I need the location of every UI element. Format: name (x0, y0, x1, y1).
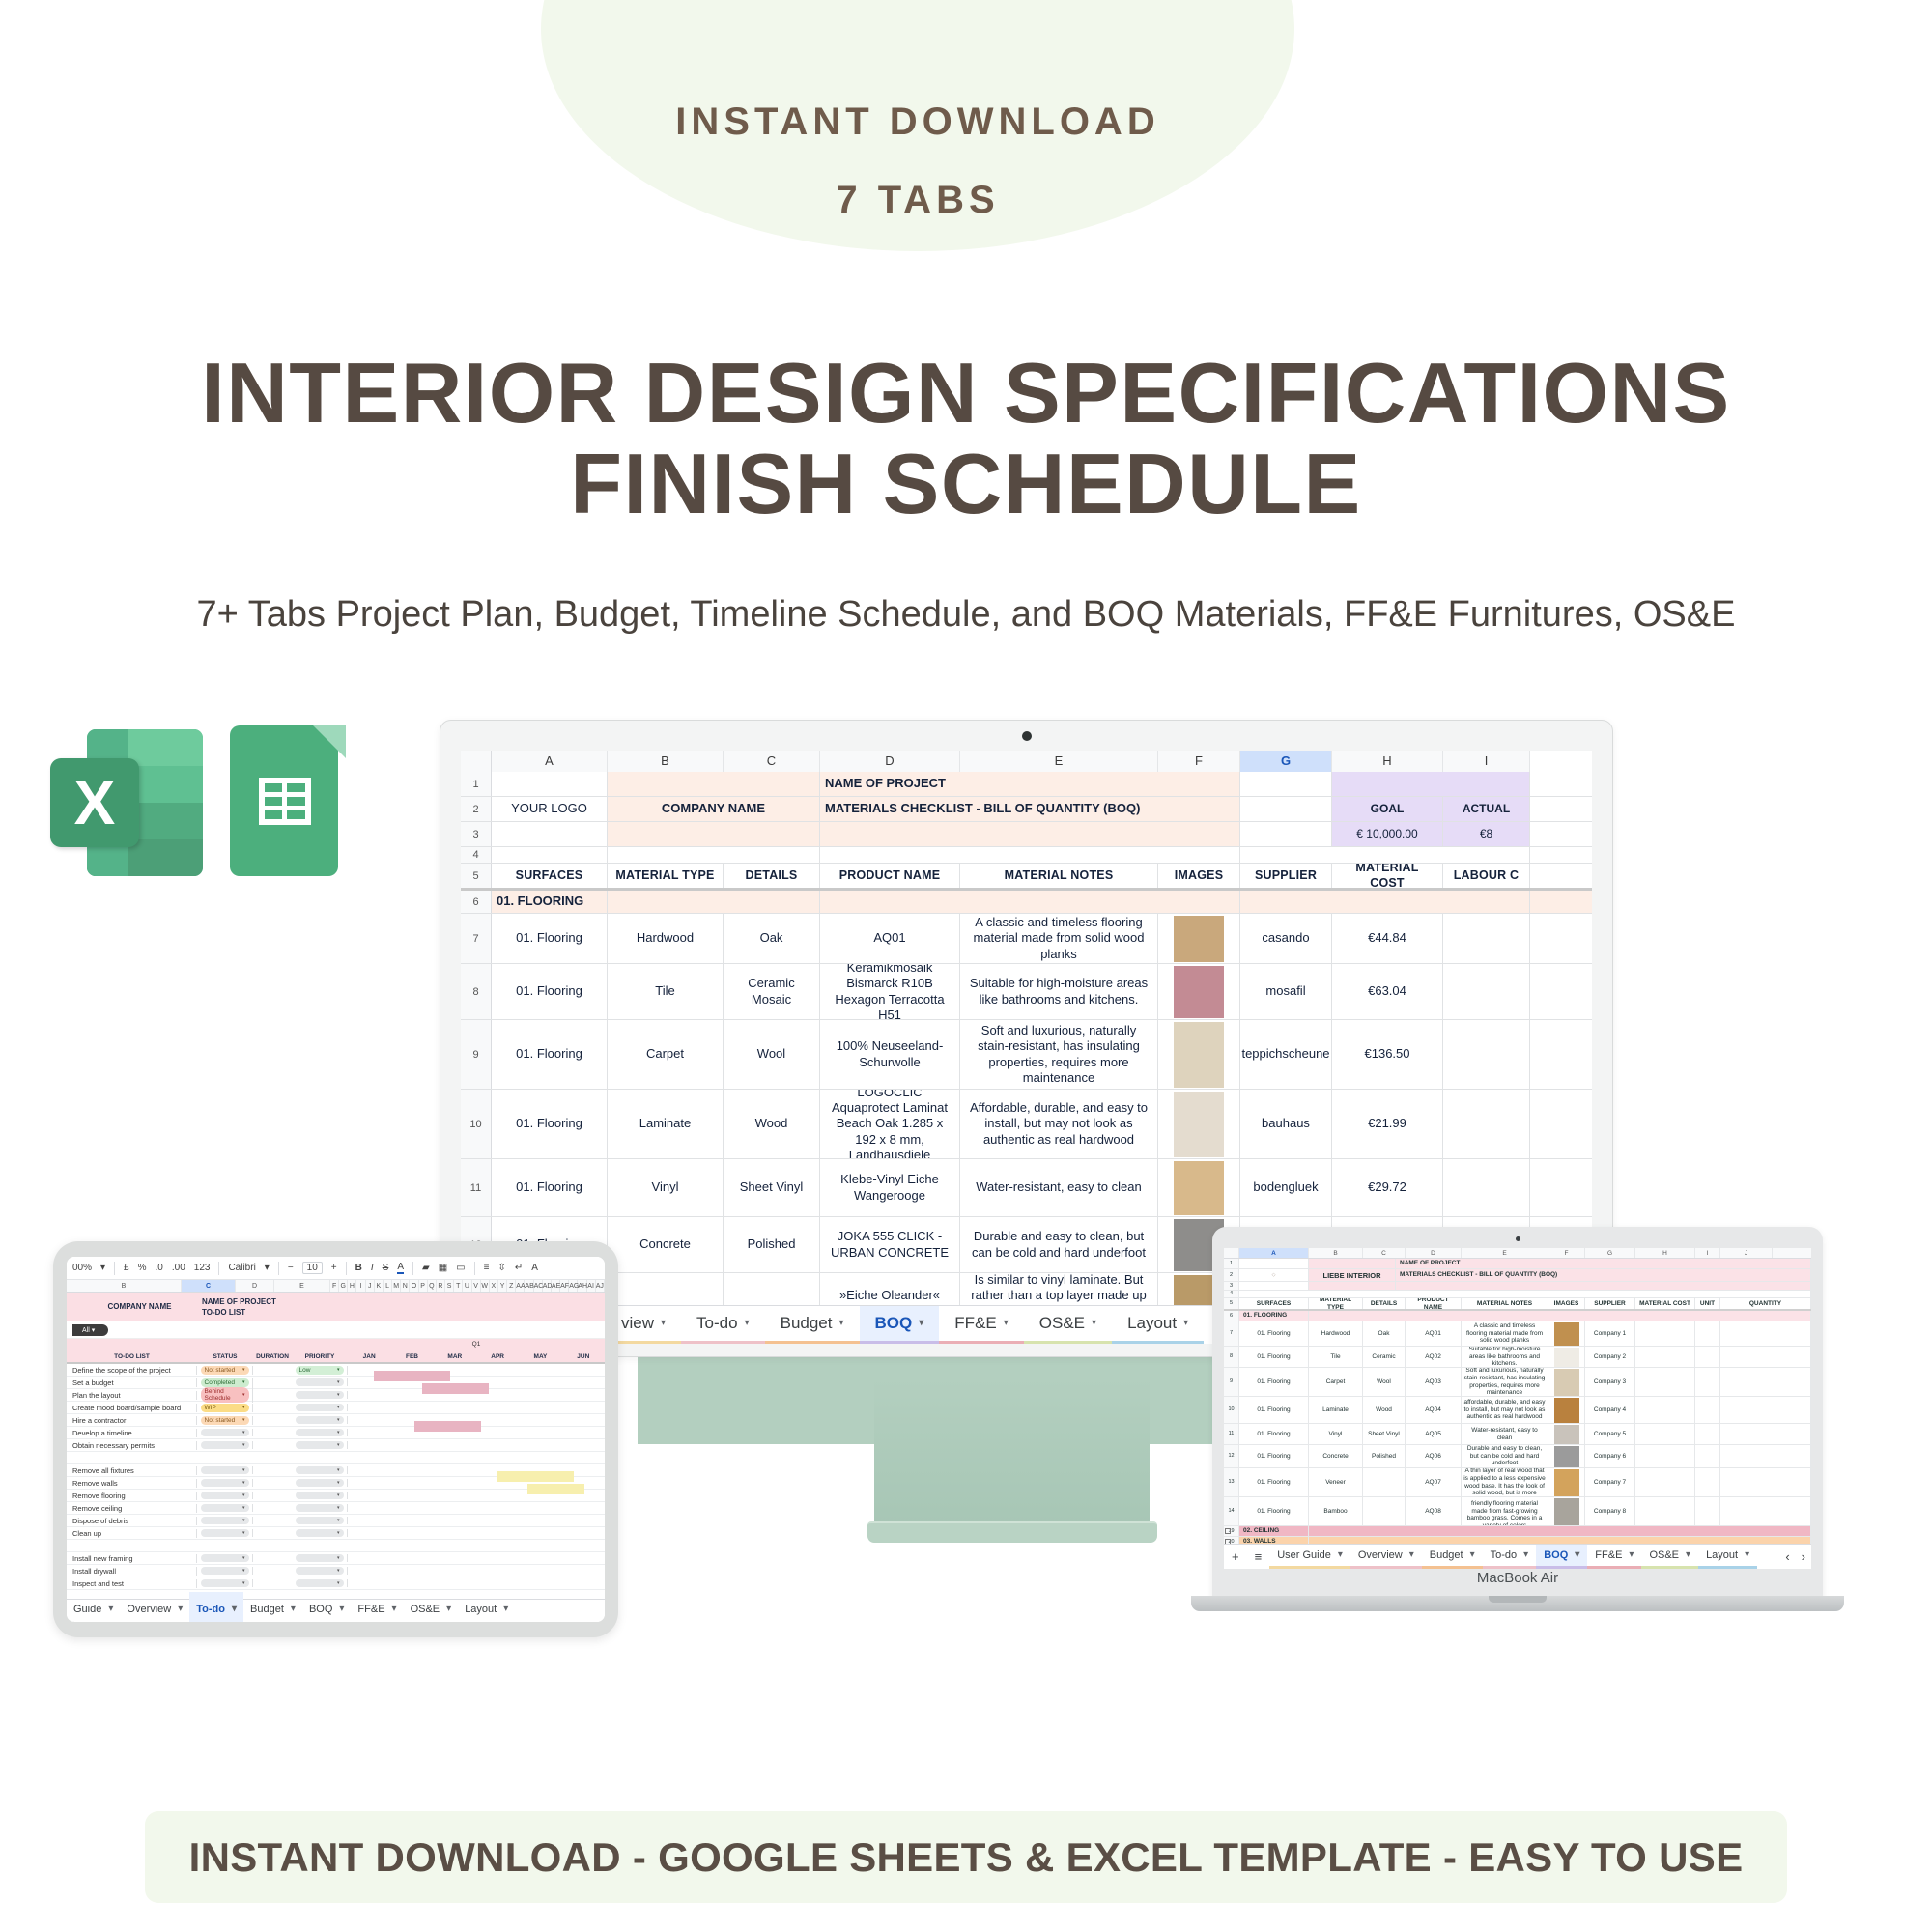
mb-cell-material-type: Vinyl (1309, 1424, 1363, 1444)
chevron-down-icon[interactable]: ▾ (100, 1263, 105, 1273)
chevron-down-icon[interactable]: ▾ (1470, 1549, 1475, 1560)
mb-col-B[interactable]: B (1309, 1248, 1363, 1258)
tablet-col-W[interactable]: W (481, 1280, 490, 1292)
sheet-tab-overview[interactable]: Overview▾ (120, 1592, 189, 1623)
mb-row-number[interactable]: 9 (1224, 1368, 1239, 1396)
cell-material-cost: €136.50 (1332, 1020, 1443, 1089)
status-chip[interactable]: WIP▾ (201, 1404, 249, 1412)
mb-cell-supplier: Company 4 (1585, 1397, 1635, 1423)
zoom-level[interactable]: 00% (72, 1263, 92, 1273)
sheet-tab-label: BOQ (875, 1314, 913, 1333)
tablet-col-H[interactable]: H (348, 1280, 356, 1292)
text-color-icon[interactable]: A (397, 1262, 404, 1274)
priority-chip[interactable]: ▾ (296, 1579, 344, 1587)
bold-icon[interactable]: B (355, 1263, 362, 1273)
col-G[interactable]: G (1240, 751, 1332, 772)
filter-all-button[interactable]: All ▾ (72, 1324, 108, 1336)
chevron-down-icon[interactable]: ▾ (337, 1518, 340, 1523)
mb-row-number[interactable]: 14 (1224, 1497, 1239, 1525)
title-line-1: INTERIOR DESIGN SPECIFICATIONS (201, 345, 1731, 440)
mb-cell-unit (1695, 1468, 1720, 1496)
cell-material-cost: €44.84 (1332, 914, 1443, 963)
increase-font-size-button[interactable]: + (331, 1263, 337, 1273)
badge-line-1: INSTANT DOWNLOAD (675, 100, 1159, 144)
mb-row-num-3[interactable]: 3 (1224, 1282, 1239, 1290)
chevron-down-icon[interactable]: ▾ (337, 1530, 340, 1536)
mb-row-num-4[interactable]: 4 (1224, 1291, 1239, 1297)
status-chip[interactable]: ▾ (201, 1579, 249, 1587)
mb-cell-image (1548, 1468, 1585, 1496)
vertical-align-icon[interactable]: ⇳ (497, 1263, 505, 1273)
mb-row-number[interactable]: 8 (1224, 1347, 1239, 1367)
horizontal-align-icon[interactable]: ≡ (484, 1263, 490, 1273)
mb-row-num-2[interactable]: 2 (1224, 1269, 1239, 1281)
status-cell: ▾ (197, 1567, 253, 1575)
status-cell: Completed▾ (197, 1378, 253, 1387)
tablet-col-C[interactable]: C (182, 1280, 236, 1292)
increase-decimal-icon[interactable]: .00 (172, 1263, 185, 1273)
mb-row-number[interactable]: 13 (1224, 1468, 1239, 1496)
tablet-col-T[interactable]: T (454, 1280, 463, 1292)
tablet-col-P[interactable]: P (419, 1280, 428, 1292)
mb-cell-material-notes: A classic and timeless flooring material… (1462, 1321, 1548, 1346)
chevron-down-icon[interactable]: ▾ (242, 1580, 245, 1586)
tablet-col-AJ[interactable]: AJ (596, 1280, 605, 1292)
chevron-down-icon[interactable]: ▾ (242, 1505, 245, 1511)
col-F[interactable]: F (1158, 751, 1240, 772)
priority-chip[interactable]: ▾ (296, 1429, 344, 1436)
priority-chip[interactable]: ▾ (296, 1504, 344, 1512)
mb-collapse-group-icon[interactable] (1225, 1528, 1231, 1534)
col-E[interactable]: E (960, 751, 1158, 772)
mb-cell-product-name: AQ03 (1406, 1368, 1462, 1396)
cell-supplier: bodengluek (1240, 1159, 1332, 1216)
number-format-icon[interactable]: 123 (194, 1263, 211, 1273)
chevron-down-icon[interactable]: ▾ (1409, 1549, 1414, 1560)
chevron-down-icon[interactable]: ▾ (242, 1568, 245, 1574)
chevron-down-icon[interactable]: ▾ (337, 1555, 340, 1561)
mb-cell-quantity (1720, 1368, 1811, 1396)
chevron-down-icon[interactable]: ▾ (242, 1518, 245, 1523)
tablet-col-M[interactable]: M (392, 1280, 401, 1292)
mb-cell-supplier: Company 8 (1585, 1497, 1635, 1525)
cell-material-type: Hardwood (608, 914, 724, 963)
priority-chip[interactable]: ▾ (296, 1378, 344, 1386)
cell-product-name: Keramikmosaik Bismarck R10B Hexagon Terr… (820, 964, 960, 1019)
chevron-down-icon[interactable]: ▾ (265, 1263, 270, 1273)
macbook-column-header-row: ABCDEFGHIJ (1224, 1248, 1811, 1259)
tablet-col-U[interactable]: U (463, 1280, 471, 1292)
col-A[interactable]: A (492, 751, 608, 772)
mb-col-E[interactable]: E (1462, 1248, 1548, 1258)
mb-material-swatch-image (1554, 1398, 1579, 1423)
month-apr: APR (476, 1350, 519, 1362)
status-chip[interactable]: Completed▾ (201, 1378, 249, 1387)
chevron-down-icon[interactable]: ▾ (745, 1318, 750, 1328)
priority-chip[interactable]: ▾ (296, 1479, 344, 1487)
col-H[interactable]: H (1332, 751, 1443, 772)
chevron-down-icon[interactable]: ▾ (1183, 1318, 1188, 1328)
tablet-banner: COMPANY NAME NAME OF PROJECT TO-DO LIST (67, 1293, 605, 1321)
row-number[interactable]: 9 (461, 1020, 492, 1089)
mb-row-number[interactable]: 10 (1224, 1397, 1239, 1423)
chevron-down-icon[interactable]: ▾ (1092, 1318, 1096, 1328)
sheet-tab-os-e[interactable]: OS&E▾ (1641, 1545, 1698, 1570)
priority-chip[interactable]: ▾ (296, 1441, 344, 1449)
cell-labour-cost (1443, 1020, 1530, 1089)
mb-cell-material-notes: A sustainable and eco-friendly flooring … (1462, 1497, 1548, 1525)
chevron-down-icon[interactable]: ▾ (337, 1430, 340, 1435)
tablet-col-AH[interactable]: AH (578, 1280, 586, 1292)
chevron-down-icon[interactable]: ▾ (242, 1392, 245, 1398)
chevron-down-icon[interactable]: ▾ (242, 1367, 245, 1373)
tablet-col-AB[interactable]: AB (525, 1280, 533, 1292)
mb-table-row: 1001. FlooringLaminateWoodAQ04affordable… (1224, 1397, 1811, 1424)
priority-chip[interactable]: ▾ (296, 1554, 344, 1562)
chevron-down-icon[interactable]: ▾ (337, 1568, 340, 1574)
sheet-tab-ff-e[interactable]: FF&E▾ (1587, 1545, 1641, 1570)
chevron-down-icon[interactable]: ▾ (242, 1417, 245, 1423)
status-chip[interactable]: ▾ (201, 1479, 249, 1487)
th-supplier: SUPPLIER (1240, 864, 1332, 888)
status-chip[interactable]: Not started▾ (201, 1366, 249, 1375)
sheet-tab-budget[interactable]: Budget▾ (1422, 1545, 1483, 1570)
mb-table-row: 1401. FlooringBambooAQ08A sustainable an… (1224, 1497, 1811, 1526)
sheet-tab-ff-e[interactable]: FF&E▾ (351, 1592, 403, 1623)
text-rotation-icon[interactable]: A (531, 1263, 538, 1273)
task-row: Remove all fixtures▾▾ (67, 1464, 605, 1477)
font-size-input[interactable]: 10 (302, 1262, 323, 1274)
chevron-down-icon[interactable]: ▾ (337, 1392, 340, 1398)
borders-icon[interactable]: ▦ (439, 1263, 447, 1273)
sheet-tab-to-do[interactable]: To-do▾ (189, 1592, 243, 1623)
status-chip[interactable]: Behind Schedule▾ (201, 1387, 249, 1403)
tablet-col-AC[interactable]: AC (534, 1280, 543, 1292)
status-chip[interactable]: ▾ (201, 1517, 249, 1524)
next-sheet-icon[interactable]: › (1796, 1549, 1811, 1564)
tablet-col-AF[interactable]: AF (560, 1280, 569, 1292)
chevron-down-icon[interactable]: ▾ (232, 1604, 237, 1614)
mb-row-number[interactable]: 19 (1224, 1526, 1239, 1536)
chevron-down-icon[interactable]: ▾ (1629, 1549, 1634, 1560)
cell-image (1158, 964, 1240, 1019)
chevron-down-icon[interactable]: ▾ (503, 1604, 508, 1614)
mb-cell-details: Wool (1363, 1368, 1406, 1396)
mb-th-details: DETAILS (1363, 1298, 1406, 1309)
task-row: Install drywall▾▾ (67, 1565, 605, 1577)
mb-row-num-6[interactable]: 6 (1224, 1311, 1239, 1321)
mb-cell-quantity (1720, 1347, 1811, 1367)
task-name: Set a budget (67, 1378, 197, 1387)
strikethrough-icon[interactable]: S (383, 1263, 389, 1273)
chevron-down-icon[interactable]: ▾ (242, 1405, 245, 1410)
chevron-down-icon[interactable]: ▾ (242, 1492, 245, 1498)
sheet-tab-label: To-do (196, 1604, 225, 1615)
tablet-col-AG[interactable]: AG (569, 1280, 578, 1292)
font-family-select[interactable]: Calibri (228, 1263, 255, 1273)
mb-col-D[interactable]: D (1406, 1248, 1462, 1258)
tablet-col-R[interactable]: R (437, 1280, 445, 1292)
chevron-down-icon[interactable]: ▾ (242, 1530, 245, 1536)
sheet-tab-boq[interactable]: BOQ▾ (302, 1592, 351, 1623)
tablet-col-Q[interactable]: Q (428, 1280, 437, 1292)
status-chip[interactable]: ▾ (201, 1567, 249, 1575)
chevron-down-icon[interactable]: ▾ (1745, 1549, 1749, 1560)
priority-chip[interactable]: ▾ (296, 1466, 344, 1474)
tablet-col-G[interactable]: G (339, 1280, 348, 1292)
tablet-col-E[interactable]: E (274, 1280, 330, 1292)
sheet-tab-to-do[interactable]: To-do▾ (681, 1306, 765, 1345)
chevron-down-icon[interactable]: ▾ (1004, 1318, 1009, 1328)
priority-cell: ▾ (292, 1529, 348, 1537)
task-name: Remove flooring (67, 1492, 197, 1500)
tablet-col-B[interactable]: B (67, 1280, 182, 1292)
mb-col-J[interactable]: J (1720, 1248, 1773, 1258)
tablet-col-V[interactable]: V (472, 1280, 481, 1292)
chevron-down-icon[interactable]: ▾ (242, 1379, 245, 1385)
chevron-down-icon[interactable]: ▾ (919, 1318, 923, 1328)
sheet-tab-overview[interactable]: Overview▾ (1350, 1545, 1422, 1570)
mb-col-C[interactable]: C (1363, 1248, 1406, 1258)
mb-cell-quantity (1720, 1497, 1811, 1525)
chevron-down-icon[interactable]: ▾ (242, 1442, 245, 1448)
company-name-cell: COMPANY NAME (608, 797, 820, 821)
status-chip[interactable]: ▾ (201, 1466, 249, 1474)
mb-row-num-1[interactable]: 1 (1224, 1259, 1239, 1268)
add-sheet-icon[interactable]: + (1224, 1549, 1247, 1564)
row-num-4[interactable]: 4 (461, 847, 492, 863)
chevron-down-icon[interactable]: ▾ (337, 1580, 340, 1586)
cell-material-cost: €29.72 (1332, 1159, 1443, 1216)
priority-chip[interactable]: ▾ (296, 1529, 344, 1537)
currency-icon[interactable]: £ (124, 1263, 129, 1273)
cell-image (1158, 1020, 1240, 1089)
row-number[interactable]: 11 (461, 1159, 492, 1216)
tablet-col-Y[interactable]: Y (498, 1280, 507, 1292)
status-chip[interactable]: ▾ (201, 1492, 249, 1499)
merge-cells-icon[interactable]: ▭ (456, 1263, 465, 1273)
row-number[interactable]: 10 (461, 1090, 492, 1158)
priority-chip[interactable]: Low▾ (296, 1366, 344, 1375)
chevron-down-icon[interactable]: ▾ (337, 1480, 340, 1486)
task-name: Install drywall (67, 1567, 197, 1576)
row-number[interactable]: 7 (461, 914, 492, 963)
tablet-col-O[interactable]: O (410, 1280, 418, 1292)
mb-cell-unit (1695, 1321, 1720, 1346)
mb-cell-material-cost (1635, 1445, 1695, 1467)
mb-row-num-5[interactable]: 5 (1224, 1298, 1239, 1309)
chevron-down-icon[interactable]: ▾ (242, 1467, 245, 1473)
chevron-down-icon[interactable]: ▾ (108, 1604, 113, 1614)
chevron-down-icon[interactable]: ▾ (1338, 1549, 1343, 1560)
chevron-down-icon[interactable]: ▾ (178, 1604, 183, 1614)
tablet-project-label: NAME OF PROJECT (202, 1297, 605, 1306)
row-num-5[interactable]: 5 (461, 864, 492, 888)
column-header-row: A B C D E F G H I (461, 751, 1592, 772)
chevron-down-icon[interactable]: ▾ (242, 1430, 245, 1435)
material-swatch-image (1174, 1092, 1224, 1157)
sheet-tab-guide[interactable]: Guide▾ (67, 1592, 120, 1623)
sheet-tab-to-do[interactable]: To-do▾ (1483, 1545, 1537, 1570)
cell-material-notes: Durable and easy to clean, but can be co… (960, 1217, 1158, 1272)
mb-col-G[interactable]: G (1585, 1248, 1635, 1258)
mb-col-I[interactable]: I (1695, 1248, 1720, 1258)
priority-cell: ▾ (292, 1466, 348, 1474)
mb-row-number[interactable]: 7 (1224, 1321, 1239, 1346)
task-row: Obtain necessary permits▾▾ (67, 1439, 605, 1452)
status-chip[interactable]: ▾ (201, 1504, 249, 1512)
sheet-tab-boq[interactable]: BOQ▾ (1536, 1545, 1587, 1570)
month-feb: FEB (390, 1350, 433, 1362)
tablet-col-AD[interactable]: AD (543, 1280, 552, 1292)
mb-cell-unit (1695, 1497, 1720, 1525)
sheet-tab-os-e[interactable]: OS&E▾ (404, 1592, 459, 1623)
chevron-down-icon[interactable]: ▾ (337, 1492, 340, 1498)
chevron-down-icon[interactable]: ▾ (339, 1604, 344, 1614)
sheet-tab-layout[interactable]: Layout▾ (1112, 1306, 1204, 1345)
mb-row-number[interactable]: 11 (1224, 1424, 1239, 1444)
chevron-down-icon[interactable]: ▾ (242, 1555, 245, 1561)
chevron-down-icon[interactable]: ▾ (1686, 1549, 1690, 1560)
status-chip[interactable]: ▾ (201, 1554, 249, 1562)
chevron-down-icon[interactable]: ▾ (337, 1467, 340, 1473)
macbook-device: ABCDEFGHIJ 1 NAME OF PROJECT 2 ◇ LIEBE I… (1212, 1227, 1850, 1652)
table-row: 901. FlooringCarpetWool100% Neuseeland-S… (461, 1020, 1592, 1090)
chevron-down-icon[interactable]: ▾ (392, 1604, 397, 1614)
mb-cell-unit (1695, 1347, 1720, 1367)
chevron-down-icon[interactable]: ▾ (242, 1480, 245, 1486)
task-name: Inspect and test (67, 1579, 197, 1588)
sheet-tab-budget[interactable]: Budget▾ (765, 1306, 860, 1345)
task-name: Remove all fixtures (67, 1466, 197, 1475)
chevron-down-icon[interactable]: ▾ (337, 1442, 340, 1448)
sheet-tab-boq[interactable]: BOQ▾ (860, 1306, 940, 1345)
chevron-down-icon[interactable]: ▾ (337, 1417, 340, 1423)
priority-chip[interactable]: ▾ (296, 1517, 344, 1524)
mb-col-H[interactable]: H (1635, 1248, 1695, 1258)
status-chip[interactable]: ▾ (201, 1429, 249, 1436)
tablet-col-L[interactable]: L (384, 1280, 392, 1292)
sheet-tab-label: view (621, 1314, 654, 1333)
tablet-col-J[interactable]: J (366, 1280, 375, 1292)
mb-cell-material-notes: Water-resistant, easy to clean (1462, 1424, 1548, 1444)
macbook-sheet-tab-bar: +≡User Guide▾Overview▾Budget▾To-do▾BOQ▾F… (1224, 1544, 1811, 1569)
chevron-down-icon[interactable]: ▾ (291, 1604, 296, 1614)
sheet-tab-os-e[interactable]: OS&E▾ (1024, 1306, 1112, 1345)
cell-image (1158, 1090, 1240, 1158)
mb-cell-image (1548, 1347, 1585, 1367)
tablet-col-S[interactable]: S (445, 1280, 454, 1292)
col-D[interactable]: D (820, 751, 960, 772)
tablet-col-AA[interactable]: AA (516, 1280, 525, 1292)
row-num-3[interactable]: 3 (461, 822, 492, 846)
priority-chip[interactable]: ▾ (296, 1391, 344, 1399)
mb-col-F[interactable]: F (1548, 1248, 1585, 1258)
tablet-col-AI[interactable]: AI (587, 1280, 596, 1292)
chevron-down-icon[interactable]: ▾ (337, 1367, 340, 1373)
row-number[interactable]: 8 (461, 964, 492, 1019)
col-I[interactable]: I (1443, 751, 1530, 772)
col-C[interactable]: C (724, 751, 820, 772)
row-num-2[interactable]: 2 (461, 797, 492, 821)
mb-row-number[interactable]: 12 (1224, 1445, 1239, 1467)
sheet-tab-layout[interactable]: Layout▾ (1698, 1545, 1757, 1570)
chevron-down-icon[interactable]: ▾ (337, 1379, 340, 1385)
status-chip-label: Completed (205, 1379, 235, 1386)
priority-chip[interactable]: ▾ (296, 1567, 344, 1575)
decrease-decimal-icon[interactable]: .0 (156, 1263, 163, 1273)
status-chip[interactable]: Not started▾ (201, 1416, 249, 1425)
mb-table-row: 1201. FlooringConcretePolishedAQ06Durabl… (1224, 1445, 1811, 1468)
priority-chip[interactable]: ▾ (296, 1492, 344, 1499)
task-name: Install new framing (67, 1554, 197, 1563)
prev-sheet-icon[interactable]: ‹ (1779, 1549, 1795, 1564)
text-wrap-icon[interactable]: ↵ (515, 1263, 523, 1273)
sheet-tab-label: FF&E (954, 1314, 996, 1333)
chevron-down-icon[interactable]: ▾ (446, 1604, 451, 1614)
tablet-task-list: Define the scope of the projectNot start… (67, 1364, 605, 1622)
chevron-down-icon[interactable]: ▾ (337, 1405, 340, 1410)
italic-icon[interactable]: I (371, 1263, 374, 1273)
tablet-col-K[interactable]: K (375, 1280, 384, 1292)
tablet-col-F[interactable]: F (330, 1280, 339, 1292)
mb-cell-quantity (1720, 1468, 1811, 1496)
chevron-down-icon[interactable]: ▾ (1523, 1549, 1528, 1560)
mb-cell-details (1363, 1468, 1406, 1496)
all-sheets-icon[interactable]: ≡ (1247, 1549, 1270, 1564)
macbook-table-body: 701. FlooringHardwoodOakAQ01A classic an… (1224, 1321, 1811, 1526)
mb-col-A[interactable]: A (1239, 1248, 1309, 1258)
decrease-font-size-button[interactable]: − (288, 1263, 294, 1273)
macbook-screen: ABCDEFGHIJ 1 NAME OF PROJECT 2 ◇ LIEBE I… (1224, 1248, 1811, 1569)
chevron-down-icon[interactable]: ▾ (661, 1318, 666, 1328)
fill-color-icon[interactable]: ▰ (422, 1263, 430, 1273)
tablet-col-I[interactable]: I (356, 1280, 365, 1292)
priority-cell: ▾ (292, 1567, 348, 1575)
macbook-camera-icon (1516, 1236, 1520, 1241)
priority-chip[interactable]: ▾ (296, 1404, 344, 1411)
col-B[interactable]: B (608, 751, 724, 772)
tablet-col-Z[interactable]: Z (507, 1280, 516, 1292)
tablet-col-X[interactable]: X (490, 1280, 498, 1292)
cell-details: Ceramic Mosaic (724, 964, 820, 1019)
chevron-down-icon[interactable]: ▾ (839, 1318, 844, 1328)
mb-cell-quantity (1720, 1397, 1811, 1423)
table-row: 1001. FlooringLaminateWoodLOGOCLIC Aquap… (461, 1090, 1592, 1159)
mb-cell-quantity (1720, 1424, 1811, 1444)
sheet-tab-ff-e[interactable]: FF&E▾ (939, 1306, 1023, 1345)
tablet-col-D[interactable]: D (236, 1280, 274, 1292)
status-chip[interactable]: ▾ (201, 1441, 249, 1449)
priority-chip[interactable]: ▾ (296, 1416, 344, 1424)
sheet-tab-layout[interactable]: Layout▾ (458, 1592, 515, 1623)
sheet-tab-budget[interactable]: Budget▾ (243, 1592, 302, 1623)
mb-cell-material-type: Concrete (1309, 1445, 1363, 1467)
row-num-6[interactable]: 6 (461, 891, 492, 913)
sheets-grid-glyph (259, 778, 311, 830)
chevron-down-icon[interactable]: ▾ (1575, 1549, 1579, 1560)
sheet-tab-label: Guide (73, 1604, 101, 1615)
mb-cell-product-name: AQ08 (1406, 1497, 1462, 1525)
row-num-1[interactable]: 1 (461, 772, 492, 796)
status-chip[interactable]: ▾ (201, 1529, 249, 1537)
chevron-down-icon[interactable]: ▾ (337, 1505, 340, 1511)
task-name: Clean up (67, 1529, 197, 1538)
percent-icon[interactable]: % (138, 1263, 147, 1273)
sheet-tab-user-guide[interactable]: User Guide▾ (1269, 1545, 1350, 1570)
tablet-col-AE[interactable]: AE (552, 1280, 560, 1292)
tablet-col-N[interactable]: N (401, 1280, 410, 1292)
